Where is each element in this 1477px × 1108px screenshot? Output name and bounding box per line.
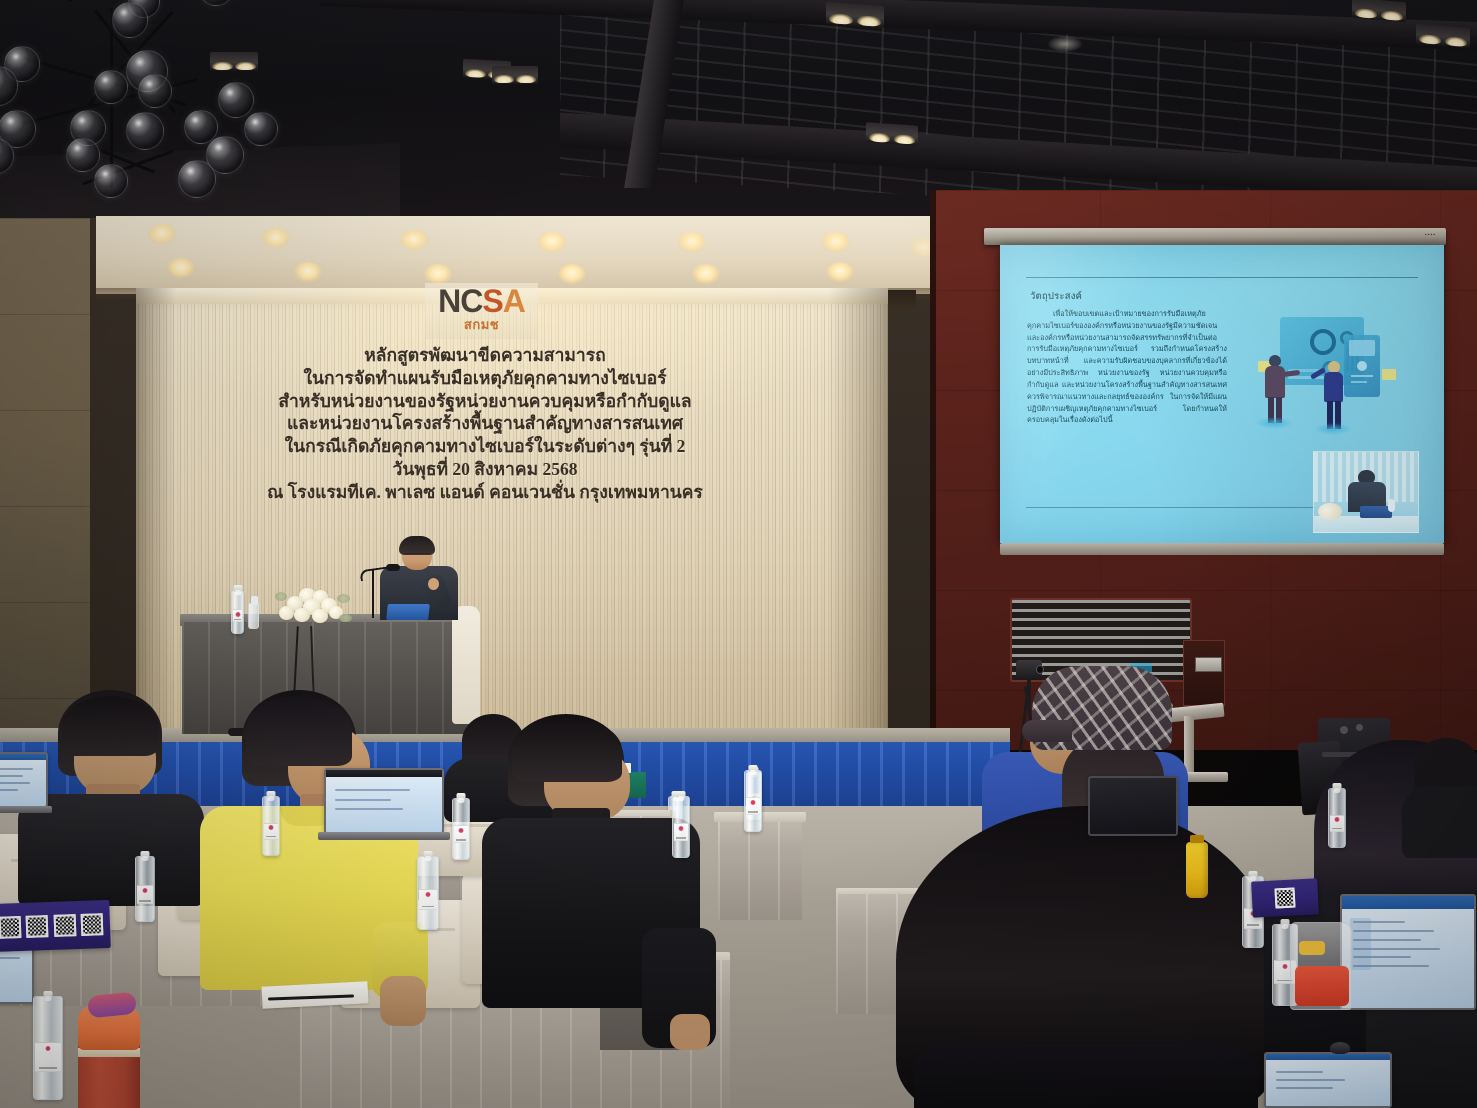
slide-divider-top xyxy=(1026,277,1418,278)
track-light-icon xyxy=(866,122,918,146)
blue-folder xyxy=(386,604,430,620)
water-bottle xyxy=(1328,788,1346,848)
backdrop-line: ในการจัดทำแผนรับมือเหตุภัยคุกคามทางไซเบอ… xyxy=(240,367,730,390)
ncsa-letter-n: N xyxy=(438,283,460,319)
illustration-side-card xyxy=(1344,335,1380,397)
illustration-pedestal xyxy=(1255,417,1293,429)
attendee-hair-top xyxy=(246,696,352,766)
attendee-shoulders xyxy=(914,1044,1258,1108)
hand-sanitizer-bottle xyxy=(248,603,259,629)
water-bottle xyxy=(231,590,244,634)
attendee-torso xyxy=(1402,786,1477,858)
downlight-icon xyxy=(294,262,322,282)
downlight-icon xyxy=(826,262,854,282)
drape-shadow-right xyxy=(828,288,888,740)
ceiling-light-reflection xyxy=(1048,36,1082,52)
ncsa-logo: NCSA สกมช xyxy=(425,283,538,339)
qr-code[interactable] xyxy=(53,914,76,937)
backdrop-line: ณ โรงแรมทีเค. พาเลซ แอนด์ คอนเวนชั่น กรุ… xyxy=(240,481,730,504)
snack-bag xyxy=(1290,922,1352,1010)
water-bottle xyxy=(33,996,63,1100)
ncsa-thai-abbrev: สกมช xyxy=(464,314,499,335)
cap-brim xyxy=(1022,720,1072,742)
slide-heading: วัตถุประสงค์ xyxy=(1030,289,1082,304)
water-bottle xyxy=(452,798,470,860)
speaker-glasses xyxy=(404,553,430,559)
laptop-screen[interactable] xyxy=(1264,1052,1392,1108)
water-bottle xyxy=(135,856,155,922)
wall-seam xyxy=(930,190,936,750)
water-bottle xyxy=(672,796,690,858)
downlight-icon xyxy=(167,258,195,278)
downlight-icon xyxy=(424,264,452,284)
illustration-line xyxy=(1351,375,1373,377)
backdrop-line: และหน่วยงานโครงสร้างพื้นฐานสำคัญทางสารสน… xyxy=(240,412,730,435)
illustration-avatar xyxy=(1357,361,1367,371)
chandelier xyxy=(0,0,340,220)
qr-code[interactable] xyxy=(1274,887,1295,908)
orange-juice-bottle xyxy=(1186,842,1208,898)
ncsa-letter-a: A xyxy=(503,283,525,319)
laptop-screen[interactable] xyxy=(1088,776,1178,836)
tripod-column xyxy=(1027,678,1031,706)
camera-lens-icon xyxy=(1036,665,1044,674)
pip-flowers xyxy=(1318,503,1342,520)
flower-arrangement xyxy=(279,588,357,628)
track-light-icon xyxy=(492,66,538,84)
qr-table-card xyxy=(1251,878,1319,917)
conference-room-photo: ▪▪▪▪ วัตถุประสงค์ เพื่อให้ขอบเขตและเป้าห… xyxy=(0,0,1477,1108)
backdrop-line: หลักสูตรพัฒนาขีดความสามารถ xyxy=(240,344,730,367)
backdrop-line: วันพุธที่ 20 สิงหาคม 2568 xyxy=(240,458,730,481)
downlight-icon xyxy=(538,232,566,252)
laptop-screen[interactable] xyxy=(324,768,444,834)
av-knob xyxy=(1356,724,1363,731)
illustration-line xyxy=(1351,381,1367,383)
qr-code[interactable] xyxy=(0,916,21,939)
housing-brand-mark: ▪▪▪▪ xyxy=(1425,232,1436,238)
av-knob xyxy=(1340,726,1348,734)
downlight-icon xyxy=(822,232,850,252)
laptop-screen[interactable] xyxy=(1340,894,1476,1010)
wall-access-panel xyxy=(1183,640,1225,706)
projector-screen-housing: ▪▪▪▪ xyxy=(984,228,1446,245)
slide-body-text: เพื่อให้ขอบเขตและเป้าหมายของการรับมือเหต… xyxy=(1027,308,1227,426)
laptop-base xyxy=(0,806,52,813)
picture-in-picture-video xyxy=(1313,451,1419,533)
downlight-icon xyxy=(678,232,706,252)
drape-shadow-left xyxy=(136,288,176,740)
pip-microphone xyxy=(1388,499,1395,512)
computer-mouse[interactable] xyxy=(1330,1042,1350,1054)
snack-item xyxy=(1295,966,1349,1006)
laptop-base xyxy=(318,832,450,840)
illustration-pedestal xyxy=(1314,423,1352,435)
downlight-icon xyxy=(692,264,720,284)
qr-table-card xyxy=(0,900,111,952)
wall-plate xyxy=(1195,657,1222,672)
water-bottle xyxy=(262,796,280,856)
side-table xyxy=(718,818,802,920)
microphone-head xyxy=(386,564,400,571)
attendee-hair-top xyxy=(62,696,158,756)
qr-code[interactable] xyxy=(81,913,104,936)
backdrop-event-title: หลักสูตรพัฒนาขีดความสามารถ ในการจัดทำแผน… xyxy=(240,344,730,503)
water-bottle xyxy=(744,770,762,832)
illustration-thumb xyxy=(1349,340,1375,356)
track-light-icon xyxy=(826,2,884,28)
downlight-icon xyxy=(400,230,428,250)
slide-illustration xyxy=(1258,313,1418,453)
backdrop-line: สำหรับหน่วยงานของรัฐหน่วยงานควบคุมหรือกำ… xyxy=(240,390,730,413)
illustration-donut-chart xyxy=(1310,329,1336,355)
illustration-chip xyxy=(1382,369,1396,380)
downlight-icon xyxy=(262,228,290,248)
stage-chair xyxy=(452,606,480,724)
qr-code[interactable] xyxy=(26,915,49,938)
downlight-icon xyxy=(558,264,586,284)
attendee-forearm xyxy=(380,976,426,1026)
speaker-hand xyxy=(428,578,439,590)
downlight-icon xyxy=(148,224,176,244)
laptop-screen[interactable] xyxy=(0,752,48,808)
water-bottle xyxy=(417,856,439,930)
projection-screen: วัตถุประสงค์ เพื่อให้ขอบเขตและเป้าหมายขอ… xyxy=(1000,245,1444,543)
snack-item xyxy=(1299,941,1325,955)
backdrop-line: ในกรณีเกิดภัยคุกคามทางไซเบอร์ในระดับต่าง… xyxy=(240,435,730,458)
attendee-hand xyxy=(670,1014,710,1050)
projector-screen-weight-bar xyxy=(1000,543,1444,555)
attendee-hair-top xyxy=(512,718,622,782)
ncsa-logo-letters: NCSA xyxy=(438,287,525,315)
